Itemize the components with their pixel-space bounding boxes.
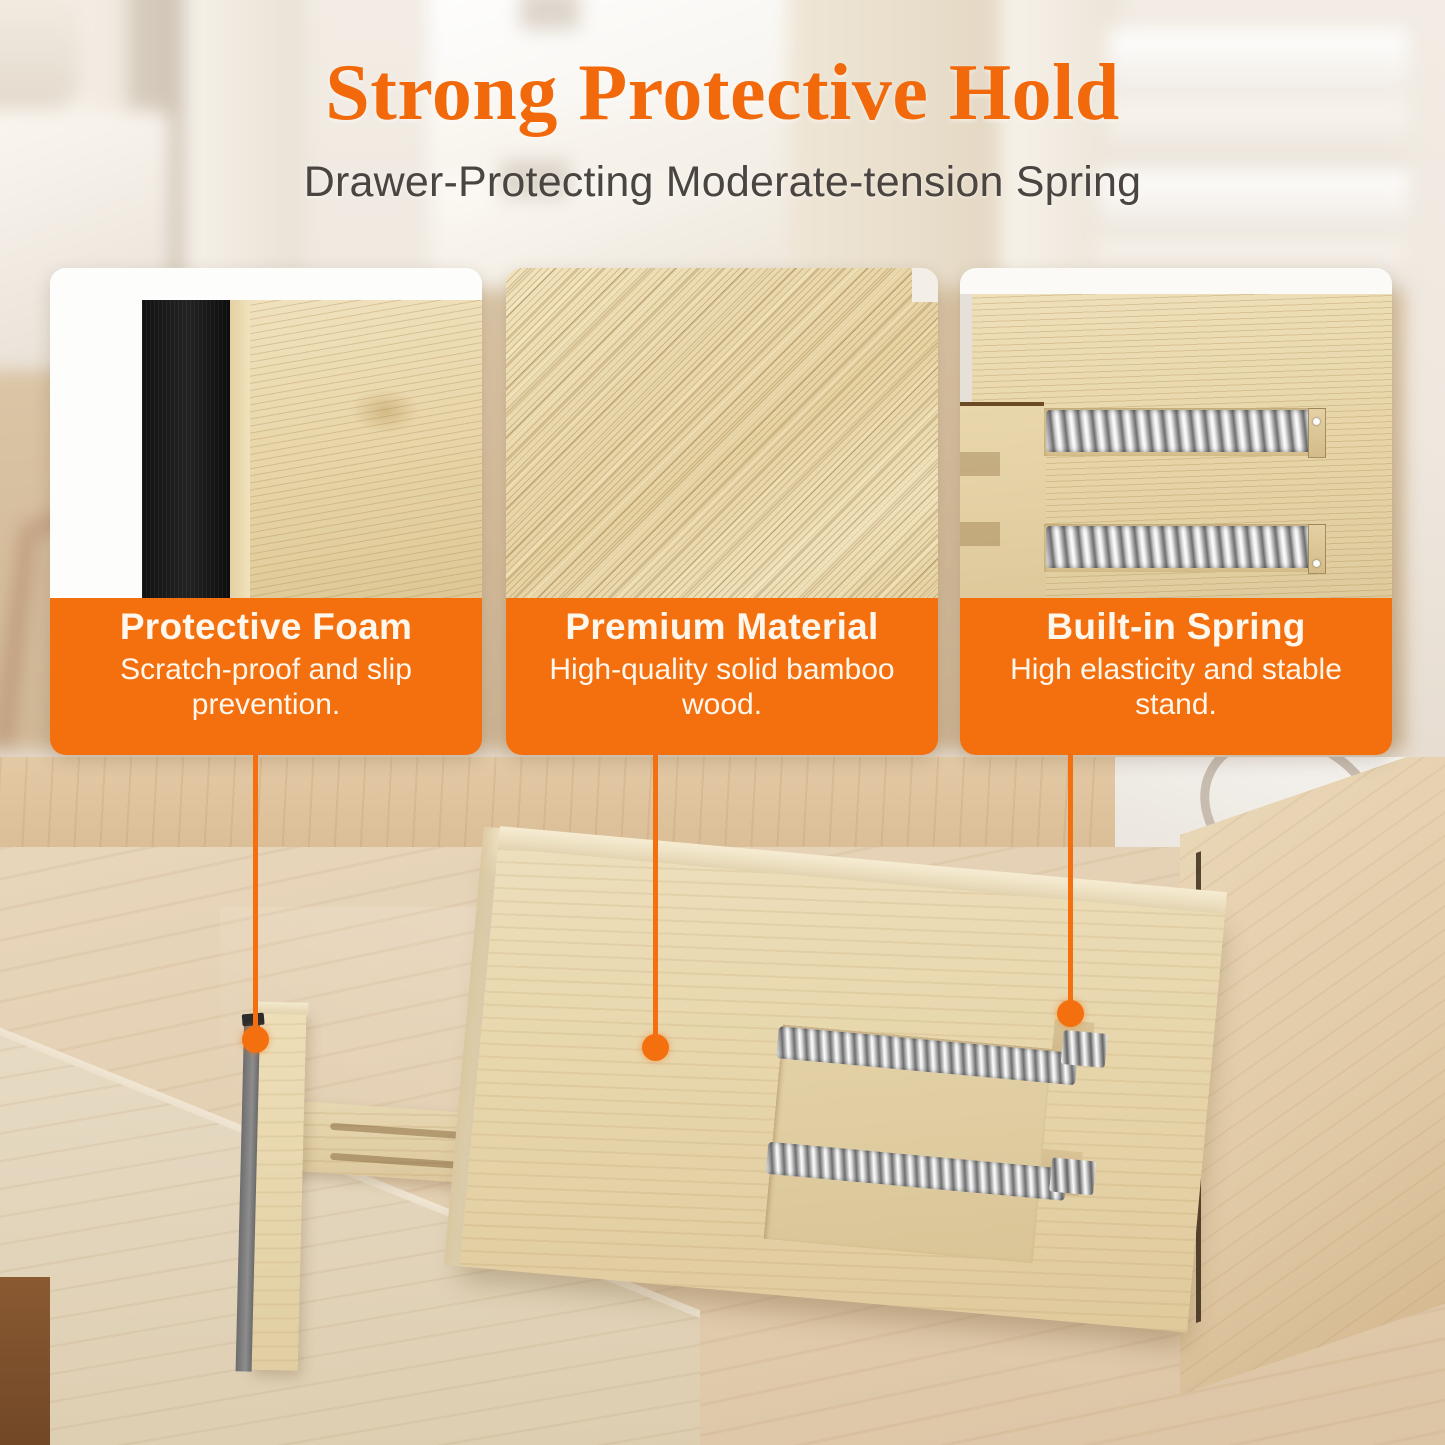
feature-photo-built-in-spring <box>960 268 1392 598</box>
spring-closeup-upper <box>1046 410 1312 452</box>
callout-line-premium-material <box>653 752 658 1048</box>
feature-label-built-in-spring: Built-in Spring High elasticity and stab… <box>960 598 1392 755</box>
callout-line-built-in-spring <box>1068 752 1073 1014</box>
spring-closeup-lower <box>1046 526 1312 568</box>
callout-line-protective-foam <box>253 752 258 1038</box>
page-title: Strong Protective Hold <box>0 48 1445 139</box>
divider-post-with-foam <box>236 1009 307 1370</box>
bamboo-divider-board <box>460 848 1225 1332</box>
feature-label-premium-material: Premium Material High-quality solid bamb… <box>506 598 938 755</box>
feature-description: Scratch-proof and slip prevention. <box>50 653 482 723</box>
feature-photo-protective-foam <box>50 268 482 598</box>
feature-card-built-in-spring[interactable]: Built-in Spring High elasticity and stab… <box>960 268 1392 755</box>
callout-dot-premium-material <box>642 1034 669 1061</box>
feature-photo-premium-material <box>506 268 938 598</box>
feature-card-premium-material[interactable]: Premium Material High-quality solid bamb… <box>506 268 938 755</box>
feature-description: High-quality solid bamboo wood. <box>506 653 938 723</box>
feature-title: Premium Material <box>565 608 878 647</box>
callout-dot-built-in-spring <box>1057 1000 1084 1027</box>
feature-description: High elasticity and stable stand. <box>960 653 1392 723</box>
feature-label-protective-foam: Protective Foam Scratch-proof and slip p… <box>50 598 482 755</box>
feature-title: Protective Foam <box>120 608 412 647</box>
feature-card-protective-foam[interactable]: Protective Foam Scratch-proof and slip p… <box>50 268 482 755</box>
callout-dot-protective-foam <box>242 1026 269 1053</box>
page-subtitle: Drawer-Protecting Moderate-tension Sprin… <box>0 158 1445 207</box>
product-feature-infographic: Strong Protective Hold Drawer-Protecting… <box>0 0 1445 1445</box>
feature-title: Built-in Spring <box>1046 608 1305 647</box>
